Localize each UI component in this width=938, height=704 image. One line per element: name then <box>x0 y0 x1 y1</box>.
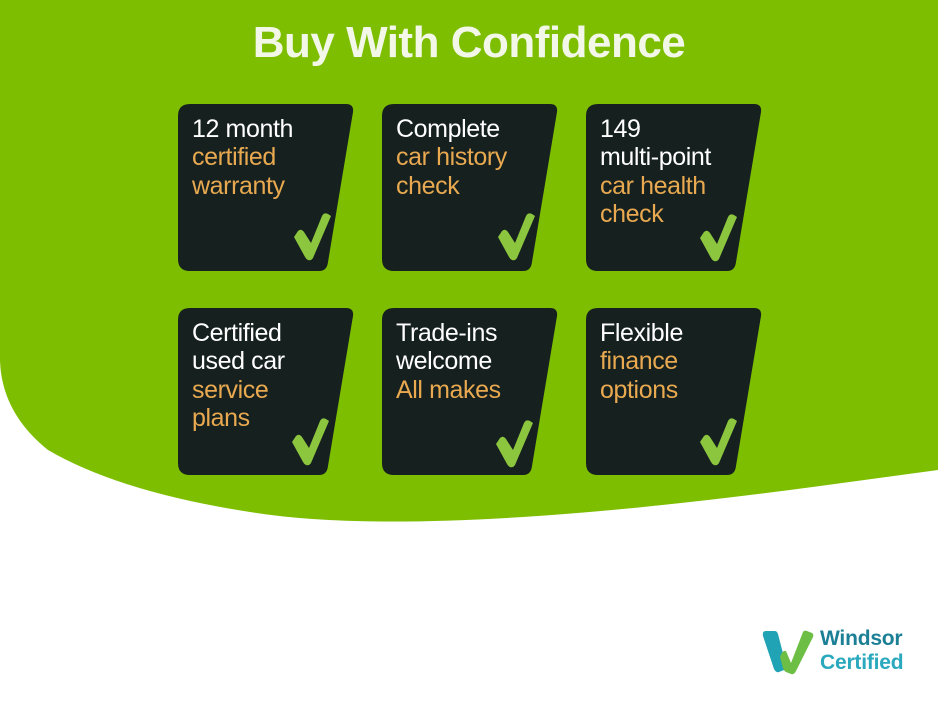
page-title: Buy With Confidence <box>0 18 938 68</box>
card-text-block: Certified used car service plans <box>192 319 342 432</box>
card-line-accent: service <box>192 376 342 404</box>
check-mark-icon <box>698 418 738 466</box>
feature-card-finance[interactable]: Flexible finance options <box>586 308 762 475</box>
card-line-accent: car history <box>396 143 546 171</box>
windsor-w-icon <box>762 629 814 675</box>
feature-card-multi-point-check[interactable]: 149 multi-point car health check <box>586 104 762 271</box>
card-line-accent: options <box>600 376 750 404</box>
check-mark-icon <box>290 418 330 466</box>
card-line-white: used car <box>192 347 342 375</box>
card-line-accent: All makes <box>396 376 546 404</box>
card-line-white: welcome <box>396 347 546 375</box>
feature-card-service-plans[interactable]: Certified used car service plans <box>178 308 354 475</box>
logo-line-certified: Certified <box>820 651 903 675</box>
card-line-white: Certified <box>192 319 342 347</box>
card-text-block: Flexible finance options <box>600 319 750 404</box>
check-mark-icon <box>292 213 332 261</box>
card-line-white: 12 month <box>192 115 342 143</box>
buy-with-confidence-banner: Buy With Confidence 12 month certified w… <box>0 0 938 704</box>
feature-card-history-check[interactable]: Complete car history check <box>382 104 558 271</box>
card-line-white: multi-point <box>600 143 750 171</box>
feature-card-warranty[interactable]: 12 month certified warranty <box>178 104 354 271</box>
check-mark-icon <box>698 214 738 262</box>
card-text-block: 149 multi-point car health check <box>600 115 750 228</box>
windsor-certified-logo[interactable]: Windsor Certified <box>762 627 927 683</box>
card-line-white: 149 <box>600 115 750 143</box>
card-text-block: Trade-ins welcome All makes <box>396 319 546 404</box>
check-mark-icon <box>496 213 536 261</box>
card-line-accent: car health <box>600 172 750 200</box>
feature-card-trade-ins[interactable]: Trade-ins welcome All makes <box>382 308 558 475</box>
logo-wordmark: Windsor Certified <box>820 627 903 675</box>
card-line-white: Trade-ins <box>396 319 546 347</box>
card-line-accent: certified <box>192 143 342 171</box>
logo-line-windsor: Windsor <box>820 627 903 651</box>
card-text-block: Complete car history check <box>396 115 546 200</box>
card-line-accent: check <box>396 172 546 200</box>
card-line-white: Complete <box>396 115 546 143</box>
card-line-white: Flexible <box>600 319 750 347</box>
feature-card-grid: 12 month certified warranty Complete car… <box>178 104 778 484</box>
card-text-block: 12 month certified warranty <box>192 115 342 200</box>
card-line-accent: finance <box>600 347 750 375</box>
card-line-accent: warranty <box>192 172 342 200</box>
check-mark-icon <box>494 420 534 468</box>
